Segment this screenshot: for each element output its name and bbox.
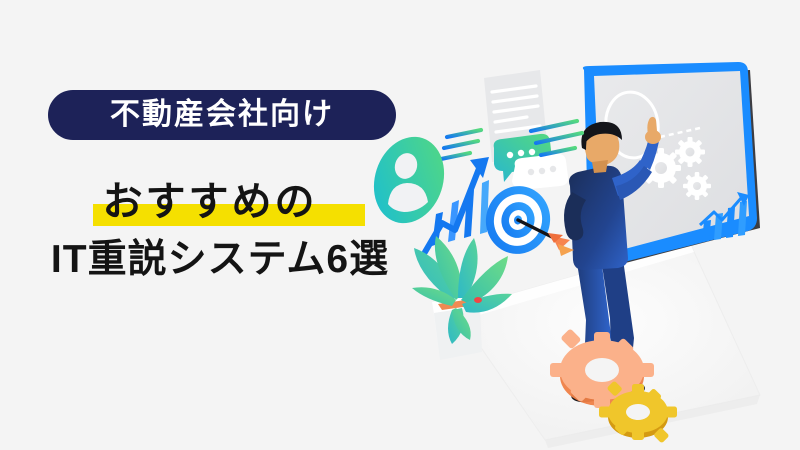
banner-canvas: 不動産会社向け おすすめの IT重説システム6選 xyxy=(0,0,800,450)
presentation-screen xyxy=(583,62,760,268)
category-badge: 不動産会社向け xyxy=(48,90,396,140)
gears-icon xyxy=(641,137,711,200)
target-icon xyxy=(479,179,574,260)
gear-small-icon xyxy=(599,381,677,444)
connector-dots xyxy=(660,128,700,137)
chat-bubble-icon xyxy=(494,134,568,199)
presenter-figure xyxy=(564,117,661,404)
category-badge-label: 不動産会社向け xyxy=(110,100,334,130)
platform-base xyxy=(455,243,760,448)
document-icon xyxy=(484,70,548,162)
bar-chart-icon xyxy=(700,192,749,242)
headline-line2-text: IT重説システム6選 xyxy=(0,234,440,286)
headline-line1-text: おすすめの xyxy=(0,178,420,226)
speed-lines-icon xyxy=(441,130,481,159)
speed-lines-icon xyxy=(531,121,582,155)
magnifier-icon xyxy=(602,89,663,175)
gear-large-icon xyxy=(550,328,654,411)
headline-line1: おすすめの xyxy=(0,178,420,228)
